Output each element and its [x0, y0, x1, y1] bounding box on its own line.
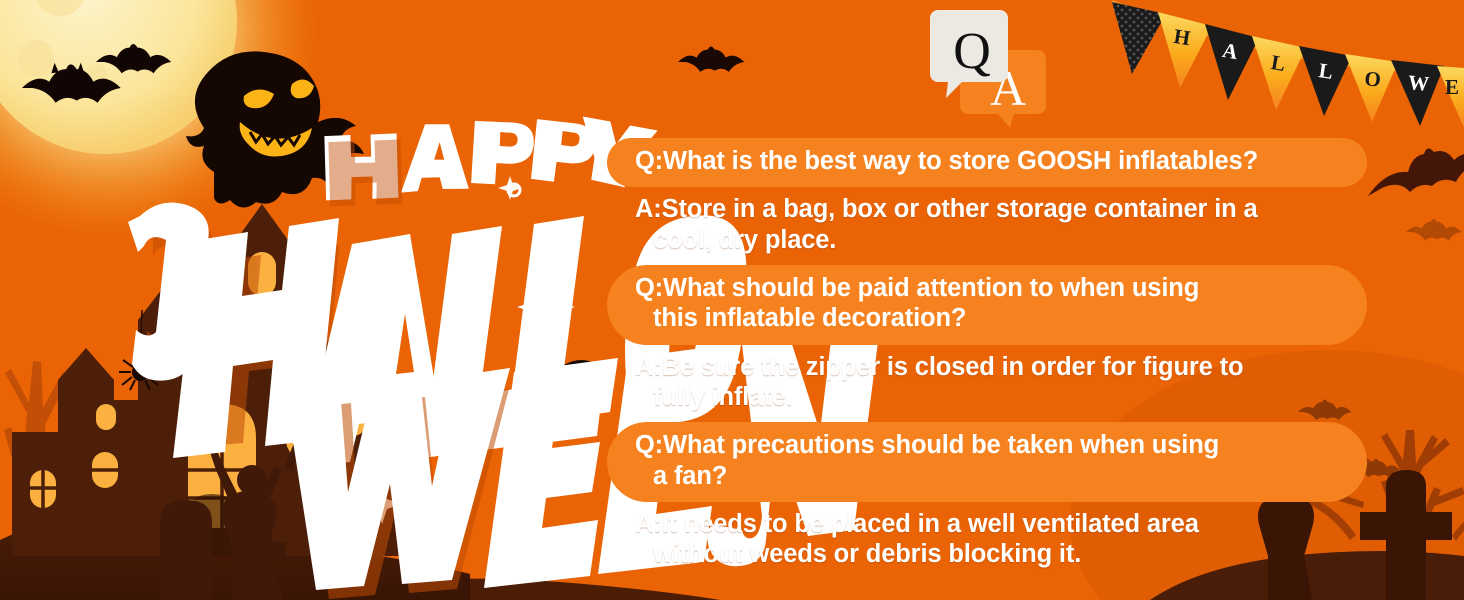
halloween-faq-banner: HAPPY — [0, 0, 1464, 600]
bunting-flags: H A L L O W — [1112, 2, 1464, 128]
faq-item-1: Q:What is the best way to store GOOSH in… — [607, 138, 1367, 265]
faq-answer-1: A:Store in a bag, box or other storage c… — [607, 190, 1367, 265]
faq-item-3: Q:What precautions should be taken when … — [607, 422, 1367, 579]
question-letter: Q — [953, 23, 991, 80]
faq-question-3: Q:What precautions should be taken when … — [635, 430, 1341, 491]
svg-text:O: O — [1363, 66, 1382, 92]
svg-text:E: E — [1445, 75, 1459, 99]
faq-question-1: Q:What is the best way to store GOOSH in… — [635, 146, 1341, 176]
svg-text:W: W — [1407, 70, 1430, 96]
faq-list: Q:What is the best way to store GOOSH in… — [607, 138, 1367, 578]
qa-bubbles-icon: A Q — [928, 4, 1048, 129]
bunting-letters-overflow: E — [1445, 75, 1459, 99]
faq-question-pill-3: Q:What precautions should be taken when … — [607, 422, 1367, 502]
faq-question-pill-2: Q:What should be paid attention to when … — [607, 265, 1367, 345]
faq-question-2: Q:What should be paid attention to when … — [635, 273, 1341, 334]
faq-item-2: Q:What should be paid attention to when … — [607, 265, 1367, 422]
faq-answer-3: A:It needs to be placed in a well ventil… — [607, 505, 1367, 580]
faq-question-pill-1: Q:What is the best way to store GOOSH in… — [607, 138, 1367, 187]
faq-answer-2: A:Be sure the zipper is closed in order … — [607, 348, 1367, 423]
